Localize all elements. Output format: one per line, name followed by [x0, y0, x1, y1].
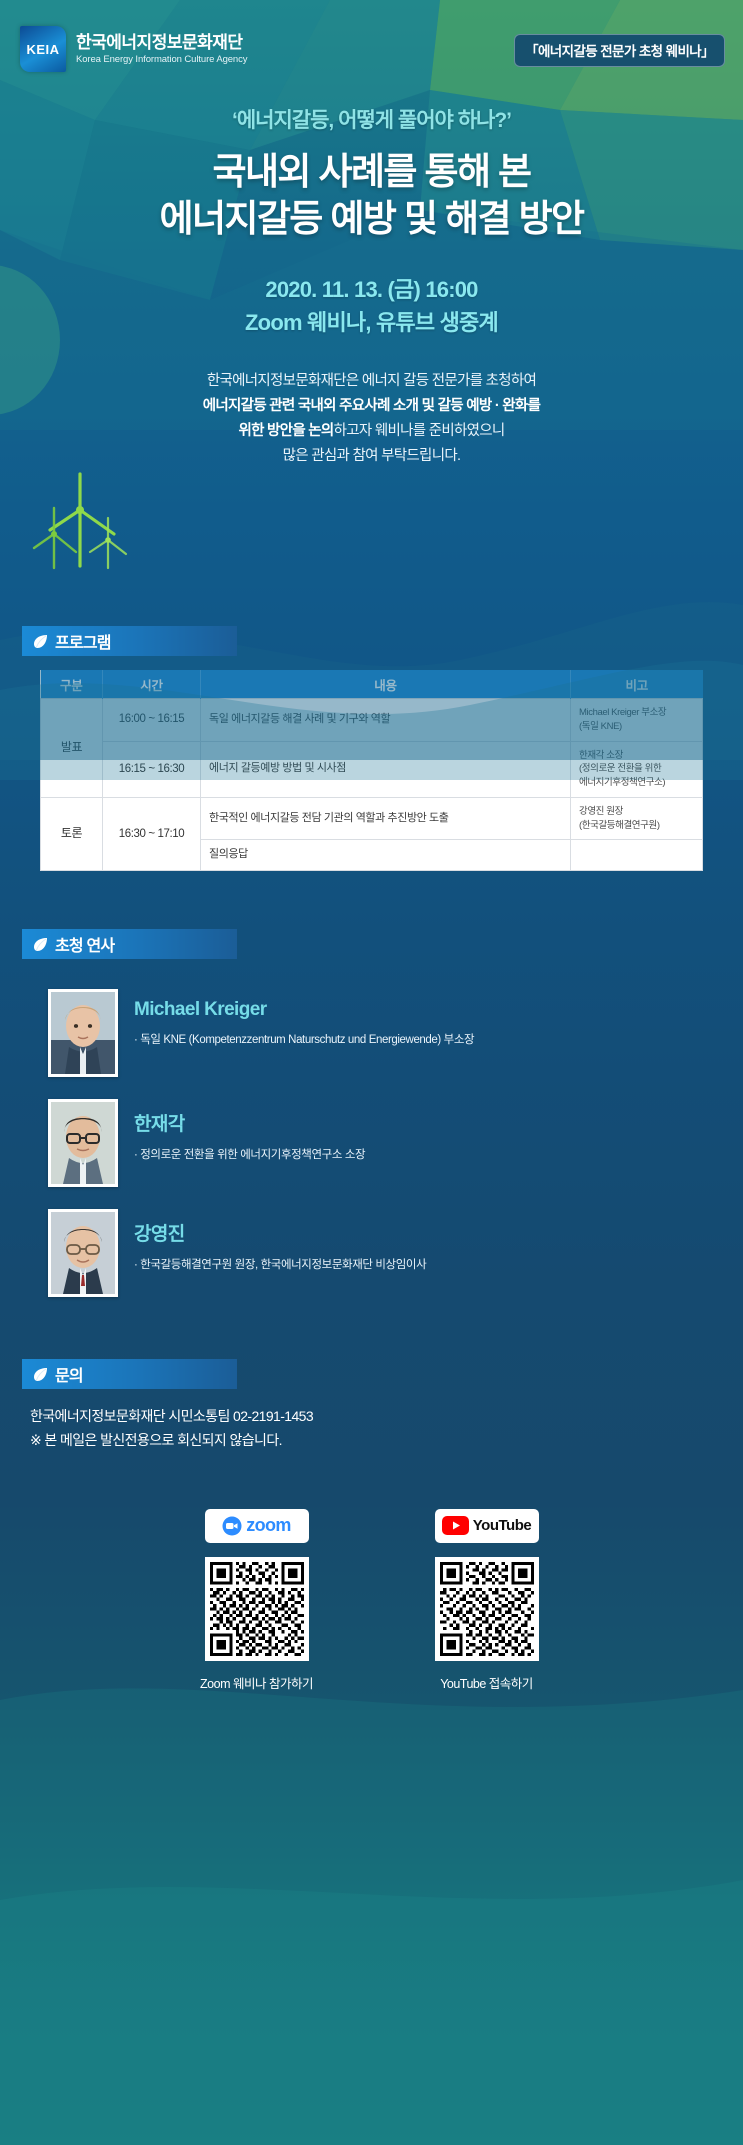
contact-notice-line: ※ 본 메일은 발신전용으로 회신되지 않습니다. — [30, 1429, 743, 1453]
cell-content: 에너지 갈등예방 방법 및 시사점 — [201, 741, 571, 797]
intro-line-4: 많은 관심과 참여 부탁드립니다. — [0, 444, 743, 469]
speaker-name: 한재각 — [134, 1109, 365, 1136]
zoom-link-caption: Zoom 웨비나 참가하기 — [182, 1673, 332, 1692]
cell-content: 한국적인 에너지갈등 전담 기관의 역할과 추진방안 도출 — [201, 797, 571, 840]
intro-line-2: 에너지갈등 관련 국내외 주요사례 소개 및 갈등 예방 · 완화를 — [0, 394, 743, 419]
column-header-note: 비고 — [571, 670, 703, 698]
event-platform: Zoom 웨비나, 유튜브 생중계 — [0, 306, 743, 339]
qr-code-image — [440, 1562, 534, 1656]
cell-division-discussion: 토론 — [41, 797, 103, 870]
youtube-link-block[interactable]: YouTube — [412, 1509, 562, 1692]
zoom-link-block[interactable]: zoom — [182, 1509, 332, 1692]
contact-phone-line: 한국에너지정보문화재단 시민소통팀 02-2191-1453 — [30, 1405, 743, 1429]
avatar — [48, 989, 118, 1077]
note-line-2: (한국갈등해결연구원) — [579, 819, 694, 833]
poster-header: KEIA 한국에너지정보문화재단 Korea Energy Informatio… — [0, 0, 743, 96]
wind-turbine-icon — [28, 468, 138, 578]
leaf-icon — [32, 1366, 49, 1383]
cell-time: 16:15 ~ 16:30 — [103, 741, 201, 797]
cell-time: 16:30 ~ 17:10 — [103, 797, 201, 870]
speaker-name: Michael Kreiger — [134, 999, 474, 1021]
hero-title-line-1: 국내외 사례를 통해 본 — [0, 148, 743, 195]
speaker-name: 강영진 — [134, 1219, 426, 1246]
section-header-program: 프로그램 — [22, 626, 237, 656]
org-name-english: Korea Energy Information Culture Agency — [76, 54, 247, 65]
note-line-2: (독일 KNE) — [579, 720, 694, 734]
cell-note — [571, 840, 703, 871]
cell-note: 강영진 원장 (한국갈등해결연구원) — [571, 797, 703, 840]
column-header-content: 내용 — [201, 670, 571, 698]
speaker-description: · 독일 KNE (Kompetenzzentrum Naturschutz u… — [134, 1031, 474, 1047]
intro-line-3-rest: 하고자 웨비나를 준비하였으니 — [334, 423, 505, 439]
column-header-division: 구분 — [41, 670, 103, 698]
note-line-3: 에너지기후정책연구소) — [579, 776, 694, 790]
youtube-wordmark: YouTube — [473, 1517, 531, 1534]
cell-note: 한재각 소장 (정의로운 전환을 위한 에너지기후정책연구소) — [571, 741, 703, 797]
cell-division-presentation: 발표 — [41, 698, 103, 797]
zoom-logo: zoom — [205, 1509, 309, 1543]
section-header-contact: 문의 — [22, 1359, 237, 1389]
program-table: 구분 시간 내용 비고 발표 16:00 ~ 16:15 독일 에너지갈등 해결… — [40, 670, 703, 871]
note-line-1: 한재각 소장 — [579, 749, 694, 763]
list-item: 강영진 · 한국갈등해결연구원 원장, 한국에너지정보문화재단 비상임이사 — [48, 1209, 743, 1297]
speaker-photo-hanjaegak — [51, 1102, 115, 1184]
list-item: Michael Kreiger · 독일 KNE (Kompetenzzentr… — [48, 989, 743, 1077]
event-date-time: 2020. 11. 13. (금) 16:00 — [0, 273, 743, 306]
intro-line-1: 한국에너지정보문화재단은 에너지 갈등 전문가를 초청하여 — [0, 369, 743, 394]
program-table-wrap: 구분 시간 내용 비고 발표 16:00 ~ 16:15 독일 에너지갈등 해결… — [40, 670, 703, 871]
note-line-2: (정의로운 전환을 위한 — [579, 762, 694, 776]
leaf-icon — [32, 936, 49, 953]
section-title-program: 프로그램 — [55, 629, 111, 653]
speaker-description: · 한국갈등해결연구원 원장, 한국에너지정보문화재단 비상임이사 — [134, 1256, 426, 1272]
footer-links: zoom — [0, 1509, 743, 1692]
leaf-icon — [32, 633, 49, 650]
cell-note: Michael Kreiger 부소장 (독일 KNE) — [571, 698, 703, 741]
youtube-link-caption: YouTube 접속하기 — [412, 1673, 562, 1692]
contact-info: 한국에너지정보문화재단 시민소통팀 02-2191-1453 ※ 본 메일은 발… — [30, 1405, 743, 1453]
hero-section: ‘에너지갈등, 어떻게 풀어야 하나?’ 국내외 사례를 통해 본 에너지갈등 … — [0, 96, 743, 468]
zoom-wordmark: zoom — [246, 1515, 291, 1536]
youtube-play-icon — [442, 1516, 469, 1535]
table-row: 토론 16:30 ~ 17:10 한국적인 에너지갈등 전담 기관의 역할과 추… — [41, 797, 703, 840]
zoom-qr-code[interactable] — [205, 1557, 309, 1661]
logo-mark-text: KEIA — [26, 42, 59, 57]
cell-content: 독일 에너지갈등 해결 사례 및 기구와 역할 — [201, 698, 571, 741]
qr-code-image — [210, 1562, 304, 1656]
avatar — [48, 1099, 118, 1187]
webinar-badge: 「에너지갈등 전문가 초청 웨비나」 — [514, 34, 725, 67]
section-title-speakers: 초청 연사 — [55, 932, 114, 956]
webinar-poster: KEIA 한국에너지정보문화재단 Korea Energy Informatio… — [0, 0, 743, 2145]
intro-line-2-bold: 에너지갈등 관련 국내외 주요사례 소개 및 갈등 예방 · 완화를 — [203, 398, 540, 414]
section-header-speakers: 초청 연사 — [22, 929, 237, 959]
intro-paragraph: 한국에너지정보문화재단은 에너지 갈등 전문가를 초청하여 에너지갈등 관련 국… — [0, 369, 743, 469]
keia-logo-icon: KEIA — [20, 26, 66, 72]
org-name-korean: 한국에너지정보문화재단 — [76, 33, 247, 53]
program-table-header-row: 구분 시간 내용 비고 — [41, 670, 703, 698]
note-line-1: 강영진 원장 — [579, 805, 694, 819]
hero-subtitle: ‘에너지갈등, 어떻게 풀어야 하나?’ — [0, 104, 743, 134]
cell-content: 질의응답 — [201, 840, 571, 871]
intro-line-3: 위한 방안을 논의하고자 웨비나를 준비하였으니 — [0, 419, 743, 444]
list-item: 한재각 · 정의로운 전환을 위한 에너지기후정책연구소 소장 — [48, 1099, 743, 1187]
cell-time: 16:00 ~ 16:15 — [103, 698, 201, 741]
speaker-list: Michael Kreiger · 독일 KNE (Kompetenzzentr… — [0, 975, 743, 1297]
youtube-logo: YouTube — [435, 1509, 539, 1543]
youtube-qr-code[interactable] — [435, 1557, 539, 1661]
table-row: 발표 16:00 ~ 16:15 독일 에너지갈등 해결 사례 및 기구와 역할… — [41, 698, 703, 741]
section-title-contact: 문의 — [55, 1362, 83, 1386]
hero-title-line-2: 에너지갈등 예방 및 해결 방안 — [0, 195, 743, 242]
speaker-photo-michael — [51, 992, 115, 1074]
column-header-time: 시간 — [103, 670, 201, 698]
event-datetime: 2020. 11. 13. (금) 16:00 Zoom 웨비나, 유튜브 생중… — [0, 273, 743, 339]
note-line-1: Michael Kreiger 부소장 — [579, 706, 694, 720]
avatar — [48, 1209, 118, 1297]
speaker-photo-kangyoungjin — [51, 1212, 115, 1294]
zoom-camera-icon — [222, 1516, 242, 1536]
speaker-description: · 정의로운 전환을 위한 에너지기후정책연구소 소장 — [134, 1146, 365, 1162]
table-row: 16:15 ~ 16:30 에너지 갈등예방 방법 및 시사점 한재각 소장 (… — [41, 741, 703, 797]
hero-title: 국내외 사례를 통해 본 에너지갈등 예방 및 해결 방안 — [0, 148, 743, 243]
intro-line-3-bold: 위한 방안을 논의 — [238, 423, 333, 439]
